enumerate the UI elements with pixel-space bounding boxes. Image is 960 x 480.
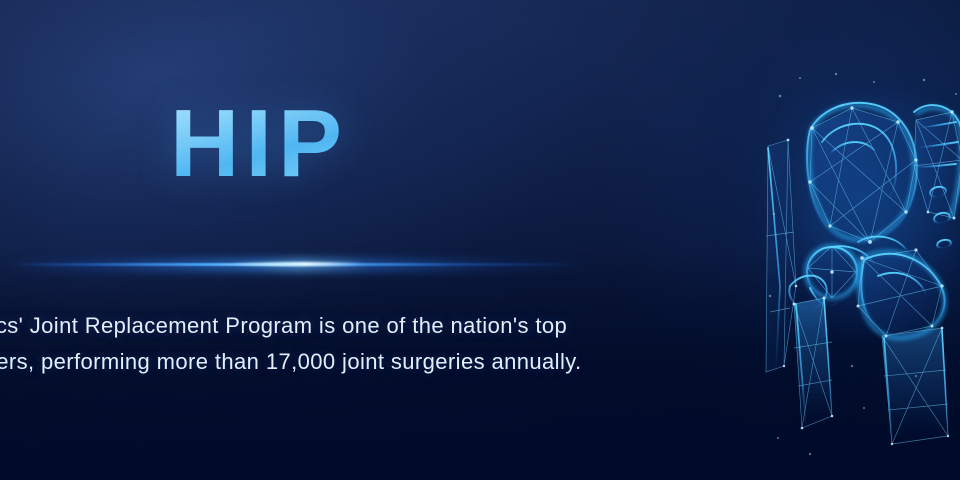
artwork-glow	[760, 90, 950, 340]
page-title: HIP	[170, 96, 348, 192]
hip-hero-banner: HIP paedicsʹ Joint Replacement Program i…	[0, 0, 960, 480]
description-line-2: t centers, performing more than 17,000 j…	[0, 344, 760, 380]
divider	[0, 256, 600, 274]
description-text: paedicsʹ Joint Replacement Program is on…	[0, 308, 760, 380]
divider-highlight	[232, 262, 364, 266]
description-line-1: paedicsʹ Joint Replacement Program is on…	[0, 308, 760, 344]
